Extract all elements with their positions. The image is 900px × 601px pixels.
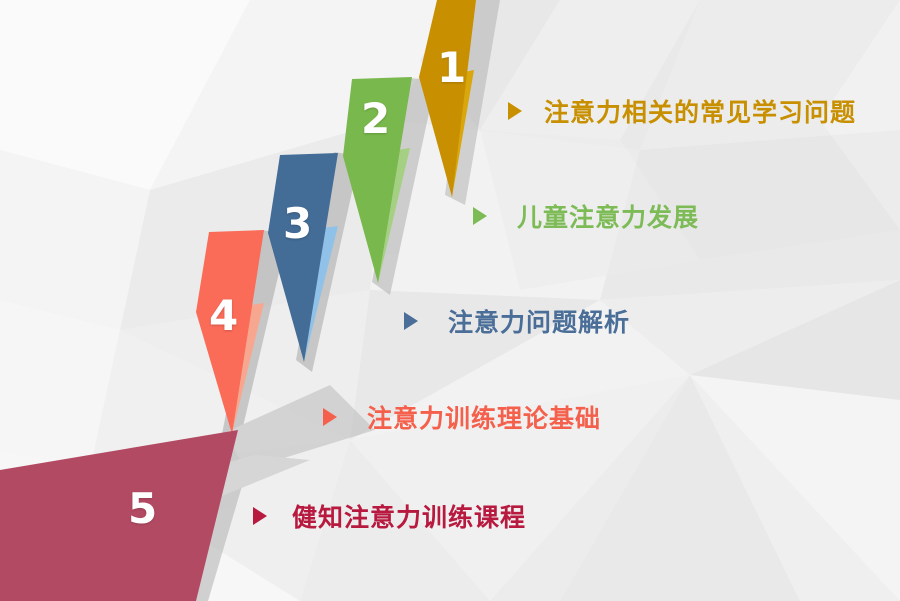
step-3-shape — [268, 153, 338, 362]
agenda-item-1[interactable]: 注意力相关的常见学习问题 — [508, 93, 856, 129]
agenda-item-2[interactable]: 儿童注意力发展 — [473, 198, 699, 234]
agenda-item-4[interactable]: 注意力训练理论基础 — [323, 399, 601, 435]
step-5-main — [0, 430, 238, 601]
agenda-item-2-label: 儿童注意力发展 — [517, 198, 699, 234]
triangle-right-icon — [473, 207, 487, 225]
triangle-right-icon — [404, 312, 418, 330]
agenda-item-5[interactable]: 健知注意力训练课程 — [253, 498, 526, 534]
agenda-item-3-label: 注意力问题解析 — [448, 303, 630, 339]
agenda-item-4-label: 注意力训练理论基础 — [367, 399, 601, 435]
step-5-shape — [0, 430, 238, 601]
step-4-shape — [196, 230, 264, 434]
agenda-item-1-label: 注意力相关的常见学习问题 — [544, 93, 856, 129]
triangle-right-icon — [323, 408, 337, 426]
step-2-shape — [343, 77, 412, 283]
triangle-right-icon — [508, 102, 522, 120]
agenda-item-3[interactable]: 注意力问题解析 — [404, 303, 630, 339]
agenda-item-5-label: 健知注意力训练课程 — [292, 498, 526, 534]
slide-canvas: 1 2 3 4 5 注意力相关的常见学习问题 儿童注意力发展 注意力问题解析 注… — [0, 0, 900, 601]
triangle-right-icon — [253, 507, 267, 525]
